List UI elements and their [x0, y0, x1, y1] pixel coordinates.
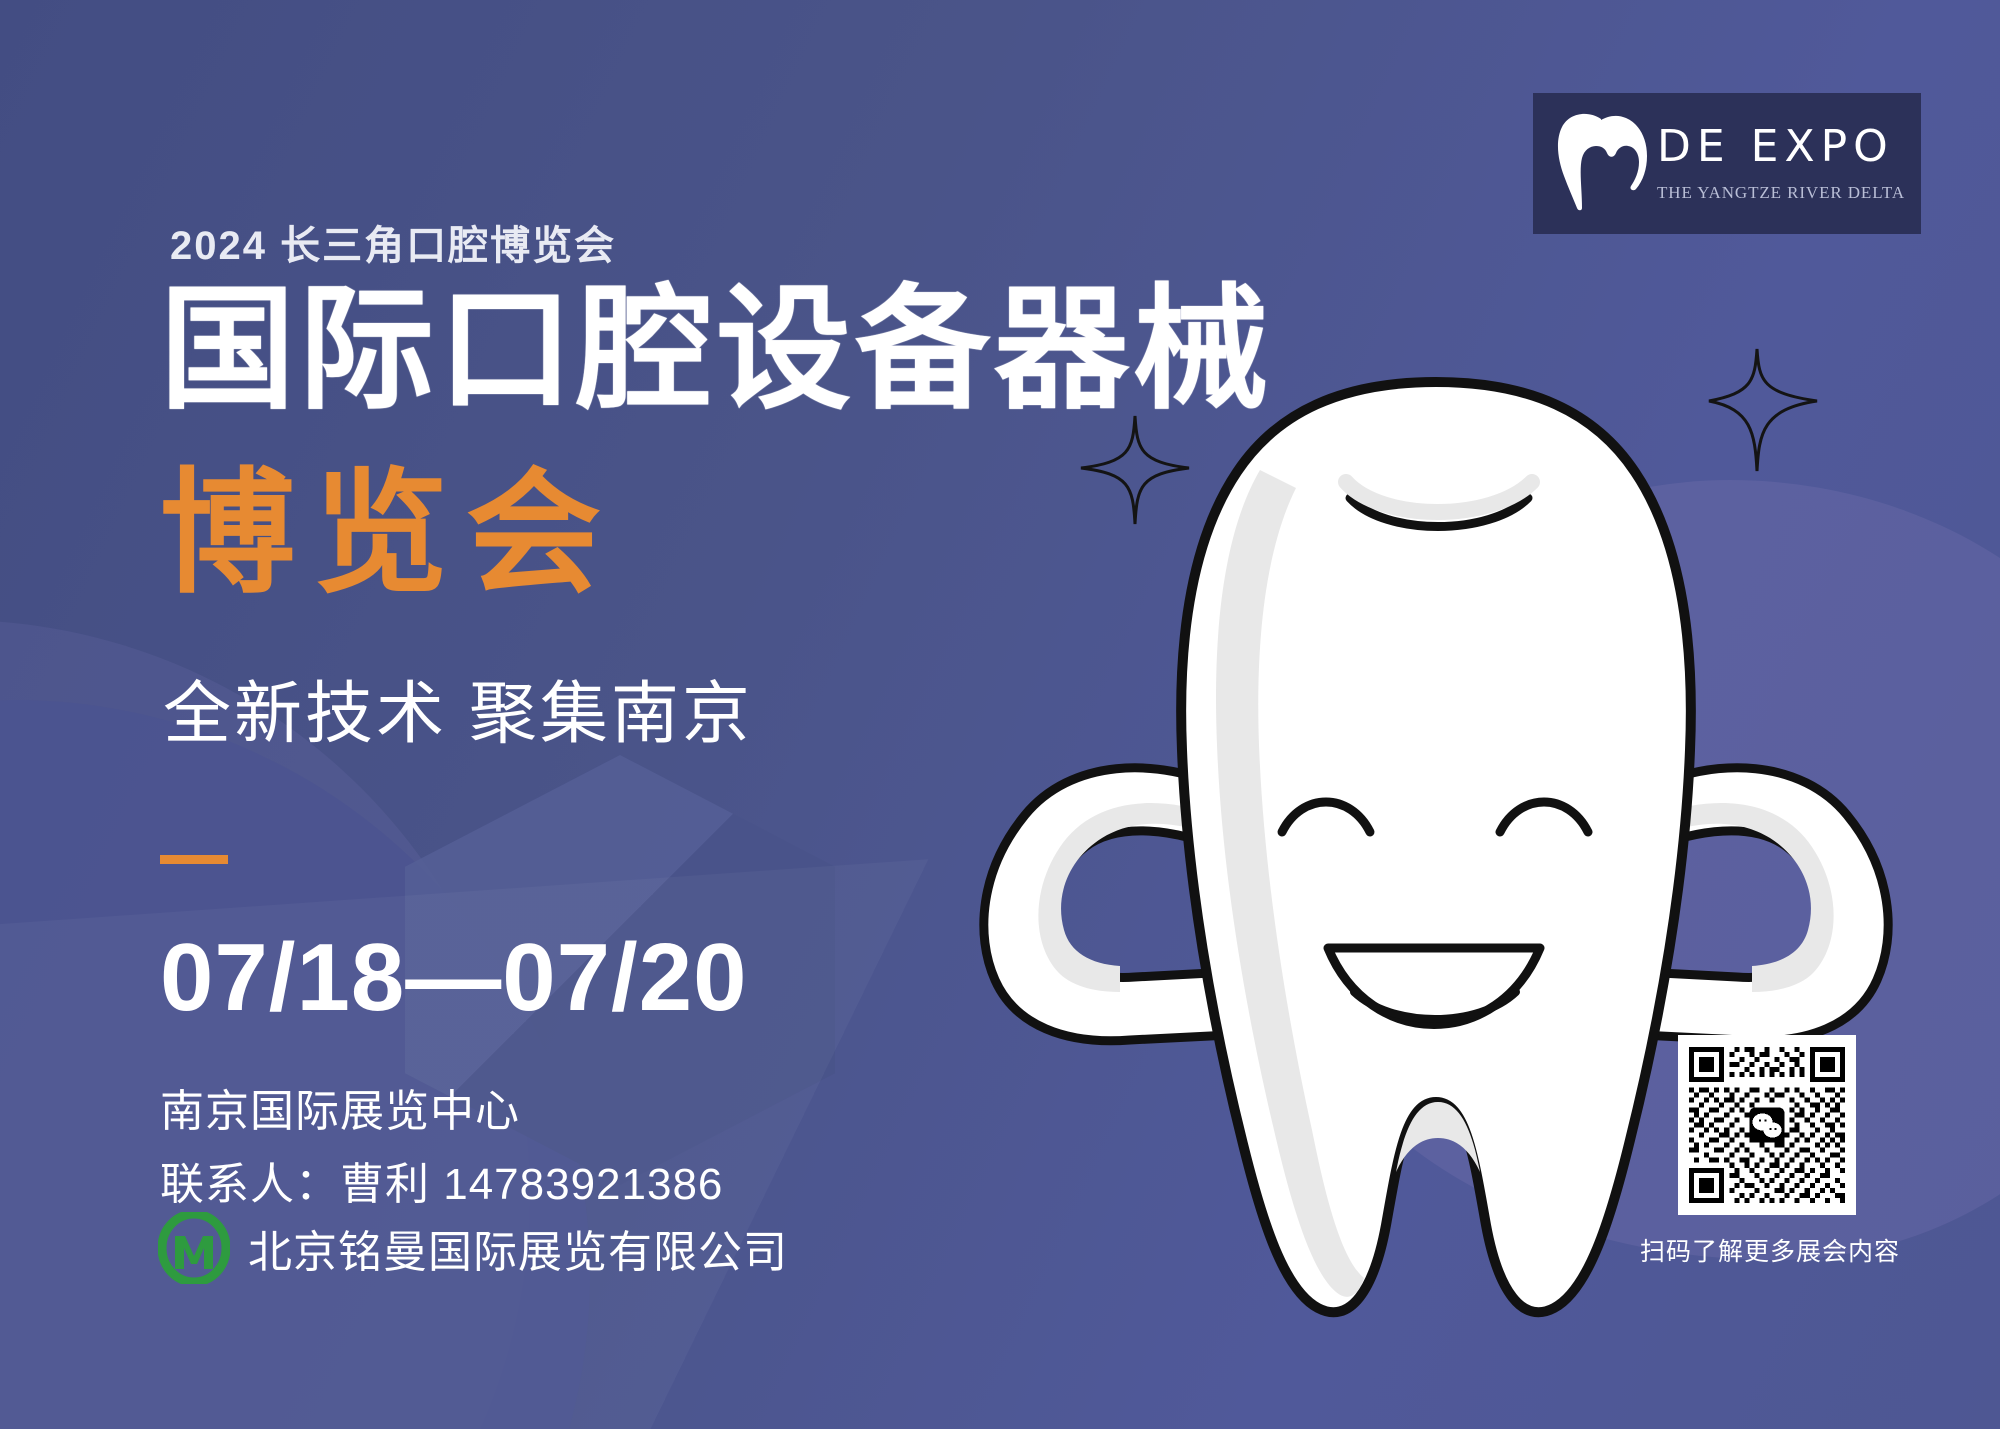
headline-line-2: 博览会 [160, 466, 619, 601]
tagline-text: 全新技术 聚集南京 [163, 680, 753, 748]
brand-logo-subtitle: THE YANGTZE RIVER DELTA [1657, 183, 1905, 203]
brand-logo-title: DE EXPO [1657, 125, 1905, 169]
venue-text: 南京国际展览中心 [160, 1075, 520, 1139]
brand-logo-text-group: DE EXPO THE YANGTZE RIVER DELTA [1657, 125, 1905, 203]
organizer-logo-icon [158, 1212, 230, 1284]
organizer-row: 北京铭曼国际展览有限公司 [158, 1212, 788, 1284]
smiling-tooth-mascot [930, 360, 1940, 1370]
organizer-name: 北京铭曼国际展览有限公司 [248, 1216, 788, 1280]
tooth-logo-icon [1555, 112, 1647, 216]
event-dates: 07/18—07/20 [160, 930, 747, 1026]
qr-code[interactable] [1678, 1035, 1856, 1215]
contact-text: 联系人：曹利 14783921386 [160, 1148, 723, 1212]
kicker-text: 2024 长三角口腔博览会 [170, 213, 616, 271]
qr-caption: 扫码了解更多展会内容 [1625, 1232, 1915, 1268]
poster-canvas: DE EXPO THE YANGTZE RIVER DELTA 2024 长三角… [0, 0, 2000, 1429]
brand-logo-panel[interactable]: DE EXPO THE YANGTZE RIVER DELTA [1533, 93, 1921, 234]
orange-divider-rule [160, 855, 228, 864]
wechat-icon [1749, 1107, 1784, 1142]
